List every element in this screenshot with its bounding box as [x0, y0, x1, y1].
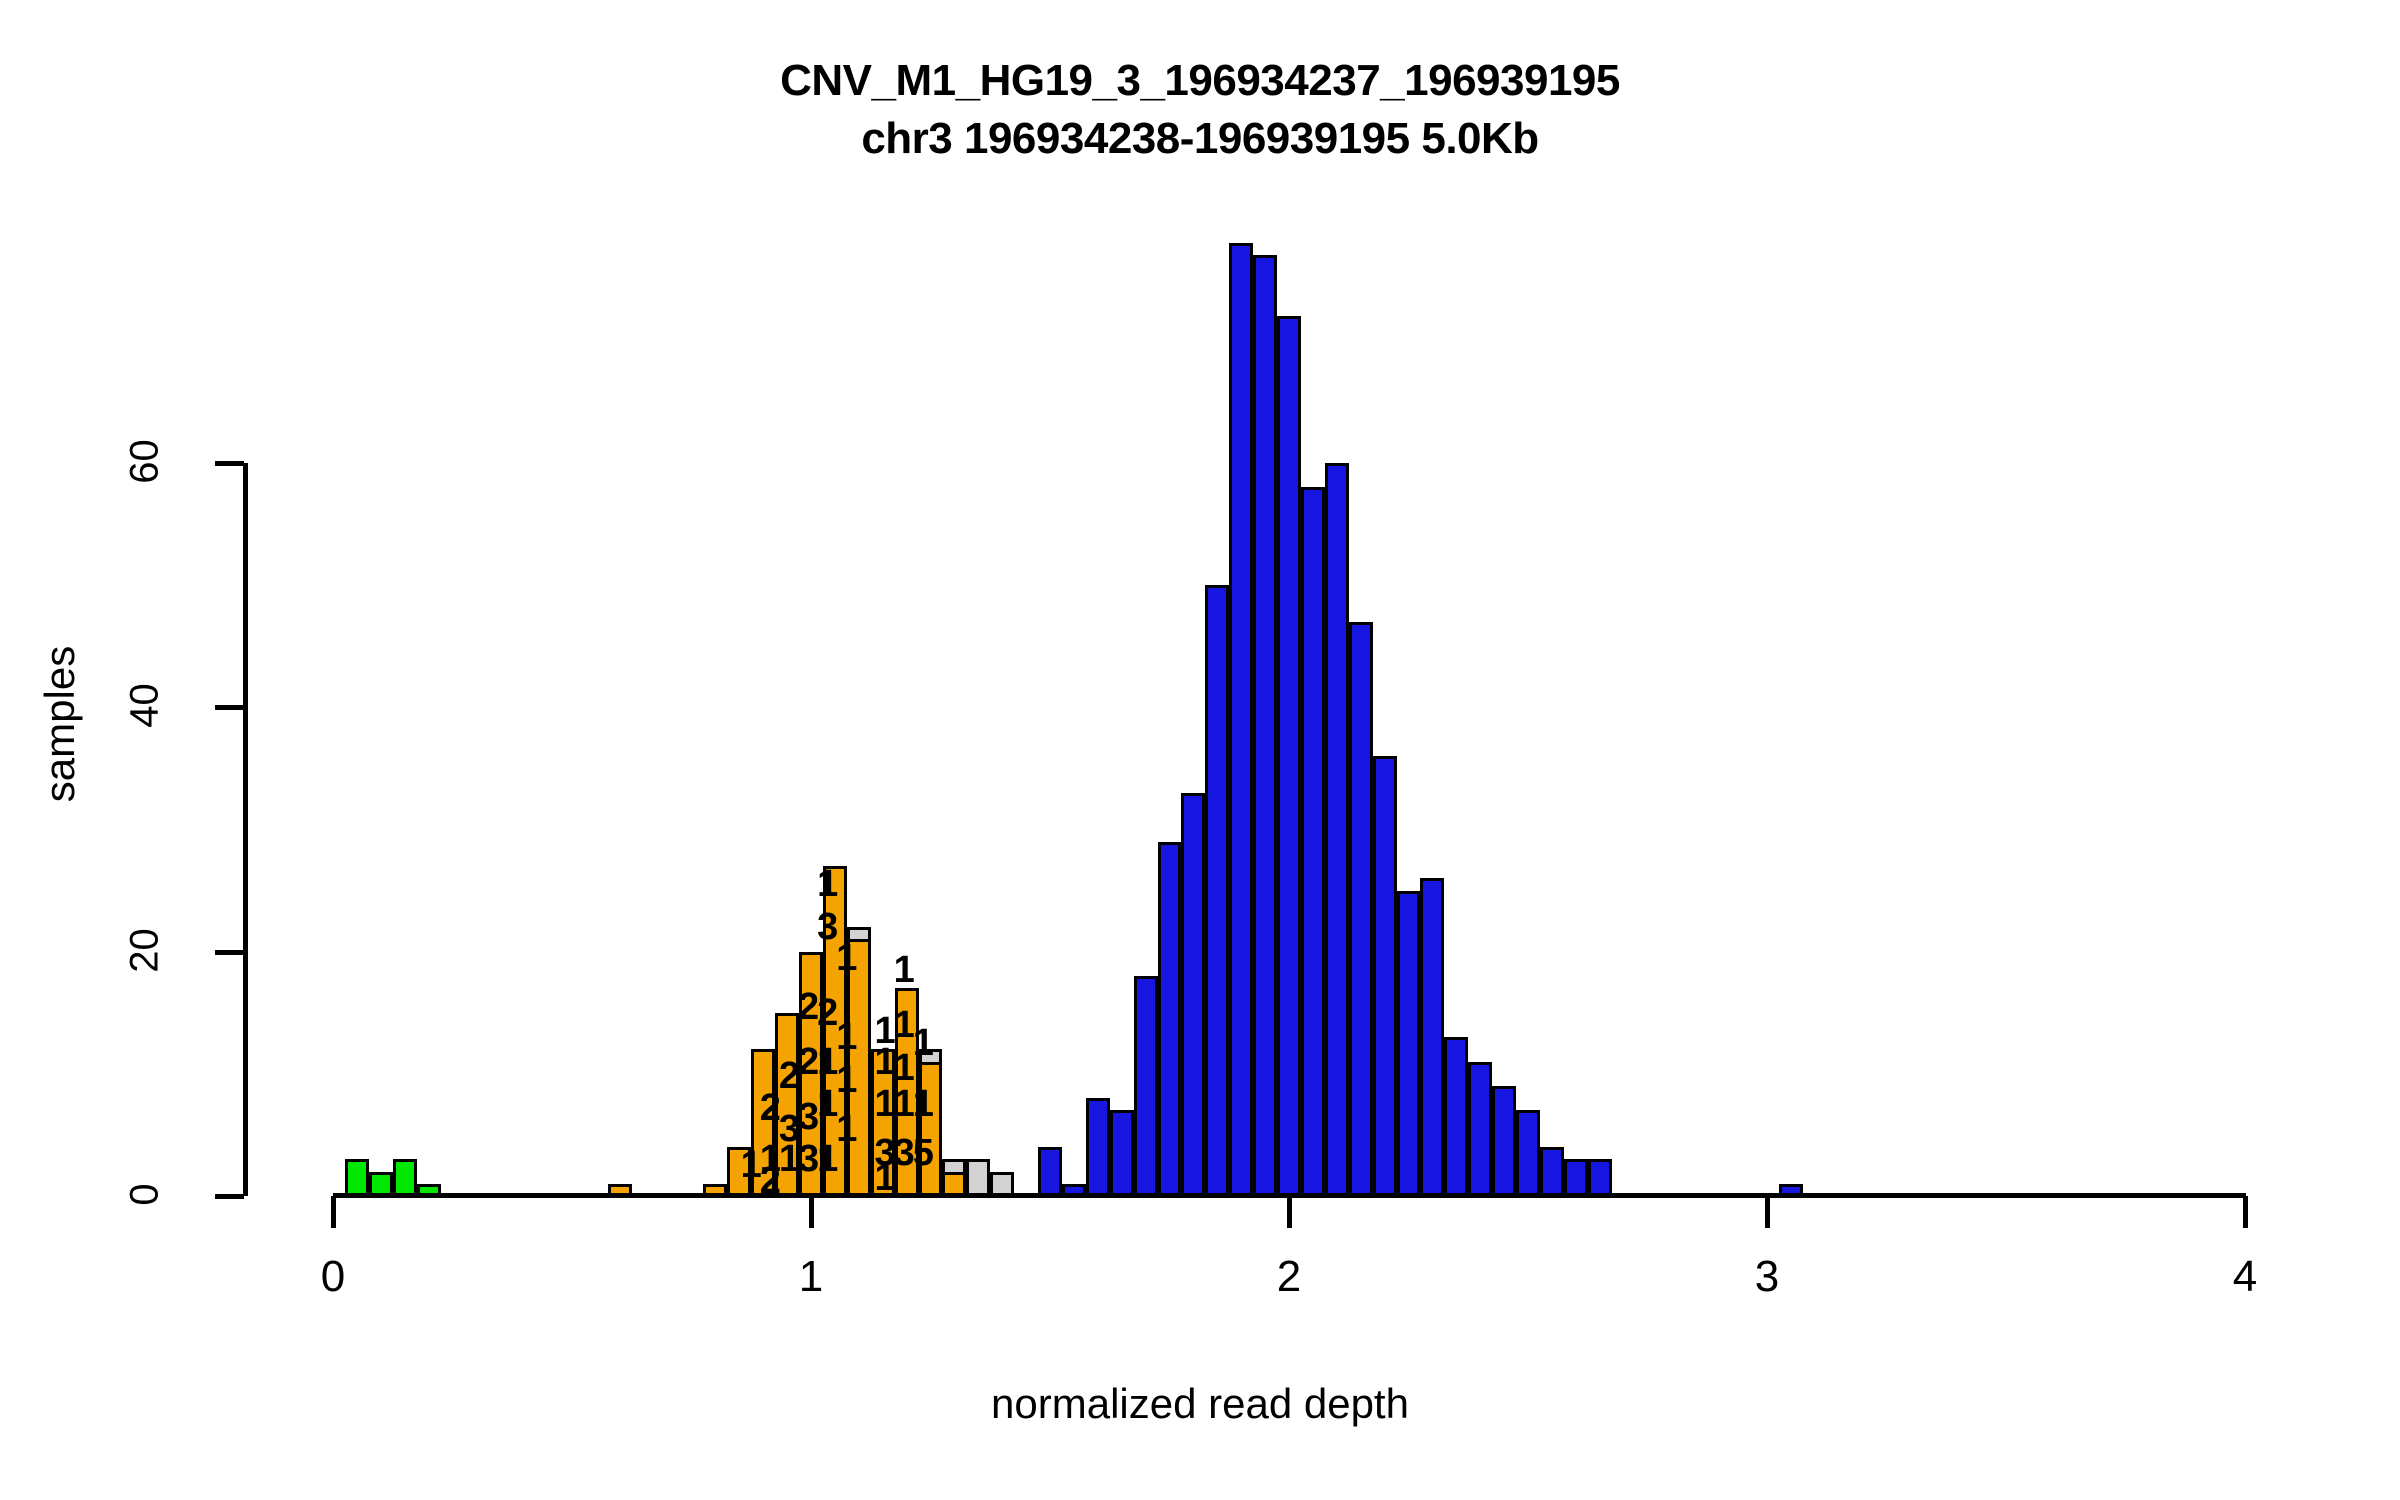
- histogram-bar: [1301, 487, 1325, 1196]
- histogram-bar: [1397, 891, 1421, 1196]
- histogram-bar: [1373, 756, 1397, 1196]
- x-axis-tick-label: 1: [771, 1252, 851, 1302]
- histogram-bar: [608, 1184, 632, 1196]
- x-axis-tick: [331, 1196, 336, 1228]
- y-axis-tick-label: 20: [123, 900, 168, 1000]
- histogram-bar: [919, 1062, 943, 1196]
- y-axis-tick-label: 60: [123, 412, 168, 512]
- bar-count-label: 5: [911, 1134, 935, 1172]
- x-axis-tick: [1287, 1196, 1292, 1228]
- histogram-bar: [942, 1172, 966, 1196]
- bar-count-label: 1: [835, 1061, 859, 1099]
- histogram-bar: [1564, 1159, 1588, 1196]
- bar-count-label: 1: [911, 1024, 935, 1062]
- histogram-bar: [1349, 622, 1373, 1196]
- histogram-bar: [1062, 1184, 1086, 1196]
- x-axis-label: normalized read depth: [0, 1380, 2400, 1428]
- histogram-bar: [1468, 1062, 1492, 1196]
- bar-count-label: 1: [816, 865, 840, 903]
- histogram-bar: [1086, 1098, 1110, 1196]
- y-axis-tick-label: 40: [123, 656, 168, 756]
- histogram-bar: [1277, 316, 1301, 1196]
- y-axis-tick: [215, 461, 244, 466]
- bar-count-label: 1: [835, 939, 859, 977]
- histogram-bar: [1134, 976, 1158, 1196]
- histogram-bar: [1516, 1110, 1540, 1196]
- histogram-bar: [417, 1184, 441, 1196]
- y-axis-tick: [215, 705, 244, 710]
- histogram-bar: [1038, 1147, 1062, 1196]
- y-axis-tick: [215, 1194, 244, 1199]
- x-axis-tick: [2243, 1196, 2248, 1228]
- histogram-bar: [1779, 1184, 1803, 1196]
- y-axis-line: [243, 463, 248, 1196]
- histogram-bar: [1588, 1159, 1612, 1196]
- bar-count-label: 1: [835, 1018, 859, 1056]
- histogram-bar: [1205, 585, 1229, 1196]
- bar-count-label: 1: [835, 1110, 859, 1148]
- bar-count-label: 1: [892, 951, 916, 989]
- y-axis-label: samples: [36, 604, 84, 844]
- x-axis-tick: [1765, 1196, 1770, 1228]
- histogram-bar: [1181, 793, 1205, 1196]
- histogram-bar: [369, 1172, 393, 1196]
- x-axis-tick-label: 3: [1727, 1252, 1807, 1302]
- histogram-bar: [990, 1172, 1014, 1196]
- bar-count-label: 1: [911, 1085, 935, 1123]
- x-axis-tick: [809, 1196, 814, 1228]
- histogram-bar: [703, 1184, 727, 1196]
- histogram-bar: [393, 1159, 417, 1196]
- histogram-bar: [1492, 1086, 1516, 1196]
- histogram-bar: [1325, 463, 1349, 1196]
- chart-root: CNV_M1_HG19_3_196934237_196939195 chr3 1…: [0, 0, 2400, 1500]
- plot-area: 1122132332211123111111311131111511 02040…: [0, 0, 2400, 1500]
- x-axis-tick-label: 4: [2205, 1252, 2285, 1302]
- histogram-bar: [1158, 842, 1182, 1196]
- histogram-bar: [966, 1159, 990, 1196]
- histogram-bar: [1110, 1110, 1134, 1196]
- y-axis-tick-label: 0: [123, 1145, 168, 1245]
- histogram-bar: [345, 1159, 369, 1196]
- x-axis-tick-label: 2: [1249, 1252, 1329, 1302]
- histogram-bar: [1420, 878, 1444, 1196]
- histogram-bar: [1253, 255, 1277, 1196]
- histogram-bar: [1229, 243, 1253, 1196]
- histogram-bar: [1444, 1037, 1468, 1196]
- y-axis-tick: [215, 950, 244, 955]
- x-axis-tick-label: 0: [293, 1252, 373, 1302]
- histogram-bar: [1540, 1147, 1564, 1196]
